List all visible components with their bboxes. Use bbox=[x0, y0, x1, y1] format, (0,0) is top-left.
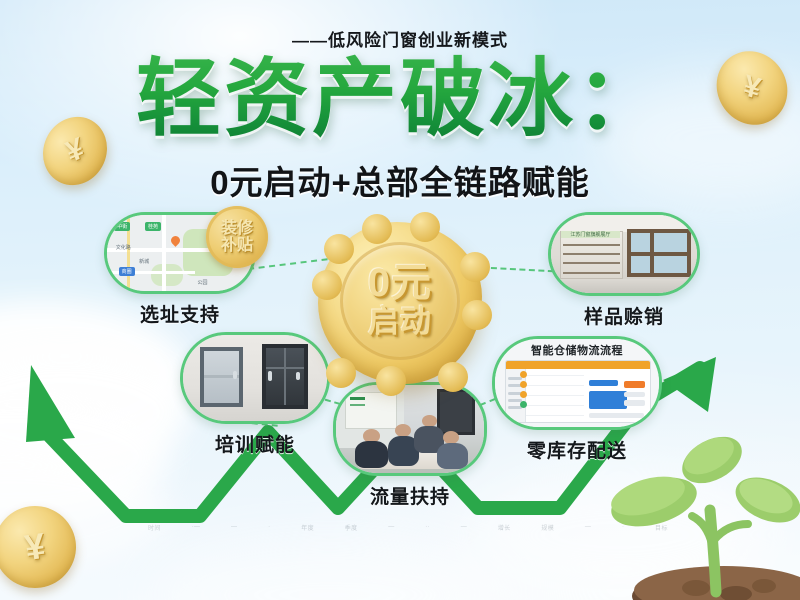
kicker-text: ——低风险门窗创业新模式 bbox=[0, 26, 800, 51]
page-title: 轻资产破冰： bbox=[0, 52, 800, 148]
sprout-illustration bbox=[596, 424, 800, 600]
subsidy-badge: 装修 补贴 bbox=[206, 206, 268, 268]
feature-training[interactable]: 培训赋能 bbox=[180, 332, 330, 457]
showroom-illustration: 江苏门窗旗舰展厅 bbox=[551, 215, 697, 293]
axis-tick: — bbox=[461, 524, 467, 530]
zero-yuan-start-seal: 0元 启动 bbox=[318, 222, 482, 384]
seal-line-2: 启动 bbox=[368, 305, 432, 339]
axis-tick: — bbox=[231, 524, 237, 530]
connector-dash-left bbox=[248, 258, 328, 270]
axis-tick: 时间 bbox=[148, 523, 161, 532]
feature-caption-sample-credit: 样品赊销 bbox=[548, 302, 700, 329]
cloud-decor bbox=[150, 540, 510, 600]
feature-sample-credit[interactable]: 江苏门窗旗舰展厅 样品赊销 bbox=[548, 212, 700, 329]
meeting-illustration bbox=[336, 385, 484, 473]
yuan-symbol-icon: ¥ bbox=[62, 131, 88, 170]
axis-tick: ·· bbox=[425, 524, 430, 530]
axis-tick: ·— bbox=[192, 524, 201, 530]
map-tag: 中街 bbox=[114, 222, 130, 231]
page-subtitle: 0元启动+总部全链路赋能 bbox=[0, 156, 800, 204]
feature-image-training bbox=[180, 332, 330, 424]
seal-line-1: 0元 bbox=[368, 263, 432, 303]
axis-tick: 规模 bbox=[541, 523, 554, 532]
axis-tick-row: 时间 ·— — · 年度 季度 — ·· — 增长 规模 — · 目标 bbox=[148, 521, 668, 533]
map-tag: 桂苑 bbox=[145, 222, 161, 231]
showroom-sign: 江苏门窗旗舰展厅 bbox=[561, 231, 619, 238]
feature-image-zero-inventory: 智能仓储物流流程 bbox=[492, 336, 662, 430]
dashboard-title: 智能仓储物流流程 bbox=[495, 342, 659, 358]
yuan-symbol-icon: ¥ bbox=[740, 69, 763, 107]
axis-tick: 年度 bbox=[301, 523, 314, 532]
axis-tick: 增长 bbox=[498, 523, 511, 532]
map-pin-icon bbox=[169, 234, 182, 247]
seal-inner-disc: 0元 启动 bbox=[340, 242, 460, 360]
axis-tick: 季度 bbox=[345, 523, 358, 532]
dashboard-illustration: 智能仓储物流流程 bbox=[495, 339, 659, 427]
axis-tick: — bbox=[388, 524, 394, 530]
axis-tick: · bbox=[268, 524, 270, 530]
feature-traffic-support[interactable]: 流量扶持 bbox=[333, 382, 487, 509]
map-tag: 商圈 bbox=[119, 267, 135, 276]
poster-canvas: 时间 ·— — · 年度 季度 — ·· — 增长 规模 — · 目标 ——低风… bbox=[0, 0, 800, 600]
feature-caption-site-selection: 选址支持 bbox=[104, 300, 256, 327]
yuan-symbol-icon: ¥ bbox=[22, 525, 48, 569]
feature-image-sample-credit: 江苏门窗旗舰展厅 bbox=[548, 212, 700, 296]
coin-bottom-left: ¥ bbox=[0, 501, 81, 594]
doors-illustration bbox=[183, 335, 327, 421]
subsidy-badge-line2: 补贴 bbox=[221, 237, 253, 254]
feature-caption-training: 培训赋能 bbox=[180, 430, 330, 457]
subsidy-badge-line1: 装修 bbox=[221, 220, 253, 237]
feature-site-selection[interactable]: 中街 桂苑 商圈 文化路 新城 公园 装修 补贴 选址支持 bbox=[104, 212, 256, 327]
axis-tick: — bbox=[585, 524, 591, 530]
wall-poster bbox=[345, 392, 397, 429]
feature-caption-traffic-support: 流量扶持 bbox=[333, 482, 487, 509]
feature-image-traffic-support bbox=[333, 382, 487, 476]
cloud-decor bbox=[0, 352, 190, 472]
cloud-decor bbox=[0, 392, 170, 522]
